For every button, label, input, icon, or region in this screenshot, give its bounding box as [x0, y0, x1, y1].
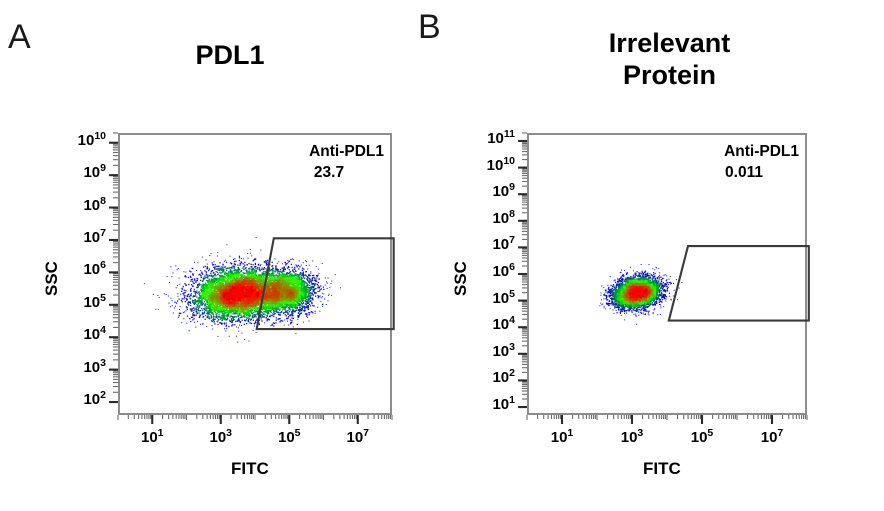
y-tick-label-a-6: 108 [58, 197, 106, 214]
panel-letter-a: A [8, 20, 31, 54]
y-tick-label-b-8: 109 [467, 183, 515, 200]
y-tick-label-b-5: 106 [467, 263, 515, 280]
panel-a: A PDL1 Anti-PDL1 23.7 SSC FITC 102103104… [0, 0, 442, 511]
y-tick-label-b-3: 104 [467, 316, 515, 333]
panel-title-a: PDL1 [140, 40, 320, 72]
y-tick-label-b-1: 102 [467, 369, 515, 386]
y-tick-label-a-0: 102 [58, 391, 106, 408]
y-tick-label-a-8: 1010 [58, 132, 106, 149]
gate-stat-label-b: Anti-PDL1 [724, 143, 799, 160]
y-tick-label-b-0: 101 [467, 396, 515, 413]
gate-stat-value-b: 0.011 [689, 163, 799, 184]
y-tick-label-a-4: 106 [58, 261, 106, 278]
y-tick-label-a-1: 103 [58, 359, 106, 376]
y-tick-label-a-2: 104 [58, 326, 106, 343]
panel-b: B Irrelevant Protein Anti-PDL1 0.011 SSC… [442, 0, 884, 511]
x-axis-title-b: FITC [643, 459, 681, 479]
x-tick-label-a-2: 105 [259, 429, 319, 446]
y-tick-label-b-4: 105 [467, 290, 515, 307]
x-tick-label-a-1: 103 [191, 429, 251, 446]
x-axis-title-a: FITC [231, 459, 269, 479]
y-tick-label-b-7: 108 [467, 210, 515, 227]
panel-title-b: Irrelevant Protein [562, 28, 777, 91]
x-tick-label-b-1: 103 [602, 429, 662, 446]
x-tick-label-a-0: 101 [122, 429, 182, 446]
gate-stat-label-a: Anti-PDL1 [309, 143, 384, 160]
y-tick-label-b-10: 1011 [467, 130, 515, 147]
gate-statistics-a: Anti-PDL1 23.7 [274, 142, 384, 184]
x-tick-label-b-0: 101 [532, 429, 592, 446]
y-tick-label-b-6: 107 [467, 236, 515, 253]
x-tick-label-b-2: 105 [672, 429, 732, 446]
y-tick-label-b-9: 1010 [467, 157, 515, 174]
x-tick-label-b-3: 107 [742, 429, 802, 446]
y-tick-label-b-2: 103 [467, 343, 515, 360]
x-tick-label-a-3: 107 [328, 429, 388, 446]
panel-letter-b: B [418, 10, 441, 44]
gate-stat-value-a: 23.7 [274, 163, 384, 184]
y-tick-label-a-7: 109 [58, 164, 106, 181]
y-tick-label-a-5: 107 [58, 229, 106, 246]
gate-statistics-b: Anti-PDL1 0.011 [689, 142, 799, 184]
y-tick-label-a-3: 105 [58, 294, 106, 311]
